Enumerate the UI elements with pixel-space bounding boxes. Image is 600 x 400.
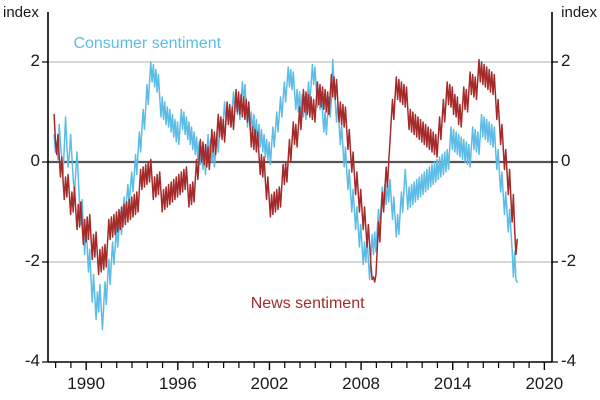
- y-axis-tick-label-left: 2: [8, 51, 40, 71]
- y-axis-tick-label-left: 0: [8, 151, 40, 171]
- x-axis-tick-label: 1990: [67, 374, 105, 394]
- sentiment-line-chart: [0, 0, 600, 400]
- series-lines: [54, 60, 517, 330]
- y-axis-tick-label-right: 0: [561, 151, 570, 171]
- y-axis-tick-label-left: -2: [8, 251, 40, 271]
- series-label-consumer-sentiment: Consumer sentiment: [73, 35, 221, 53]
- x-axis-tick-label: 2014: [434, 374, 472, 394]
- chart-figure: index index 2200-2-2-4-41990199620022008…: [0, 0, 600, 400]
- x-axis-tick-label: 2008: [342, 374, 380, 394]
- y-axis-tick-label-left: -4: [8, 351, 40, 371]
- y-axis-tick-label-right: 2: [561, 51, 570, 71]
- y-axis-tick-label-right: -2: [561, 251, 576, 271]
- x-axis-tick-label: 2002: [251, 374, 289, 394]
- y-axis-tick-label-right: -4: [561, 351, 576, 371]
- x-axis-tick-label: 1996: [159, 374, 197, 394]
- x-axis-tick-label: 2020: [525, 374, 563, 394]
- series-label-news-sentiment: News sentiment: [251, 295, 365, 313]
